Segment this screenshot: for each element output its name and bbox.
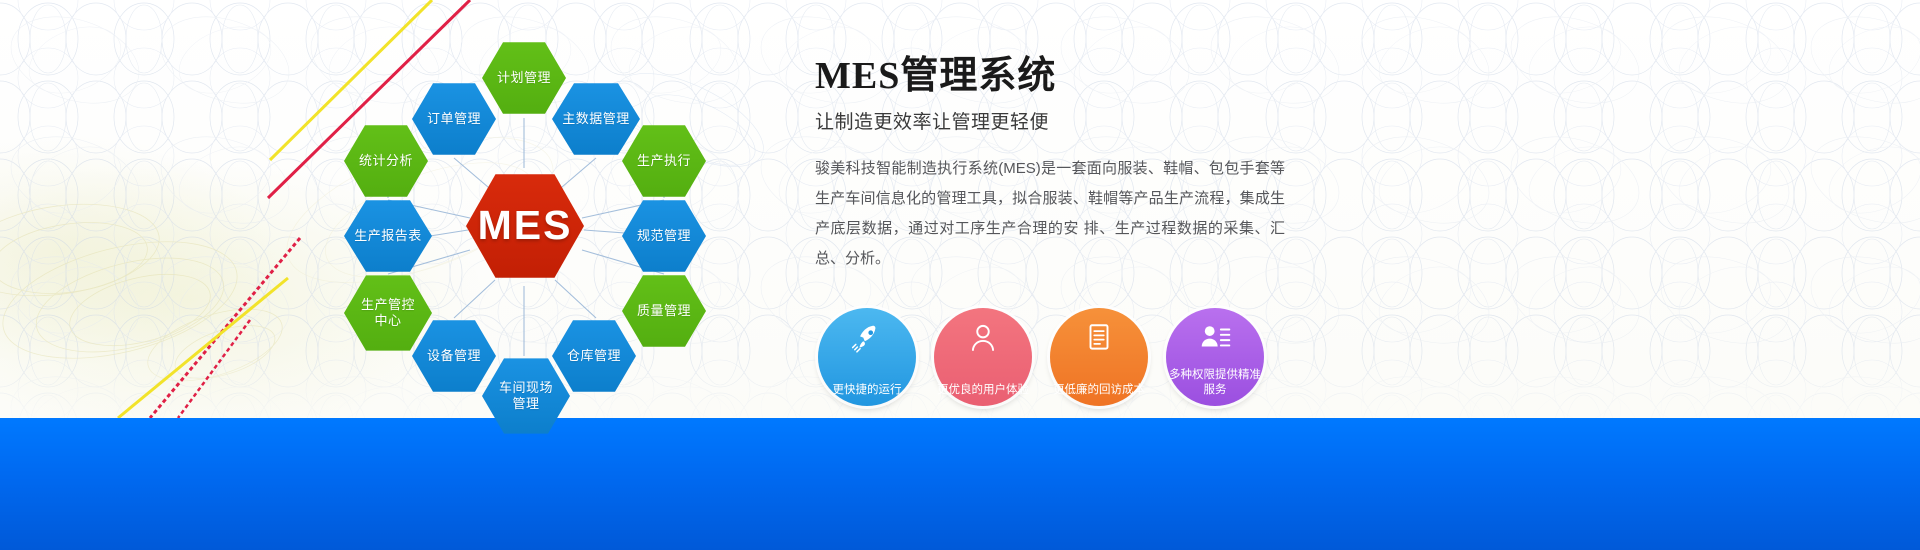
hex-node-label: 生产报告表 <box>354 228 422 244</box>
user-list-icon <box>1198 321 1232 355</box>
hex-node-label: 质量管理 <box>637 303 691 319</box>
hex-node-label: 生产管控中心 <box>360 297 416 330</box>
hex-node-label: 生产执行 <box>637 153 691 169</box>
feature-badge[interactable]: 多种权限提供精准服务 <box>1166 308 1264 406</box>
hex-node-label: 统计分析 <box>359 153 413 169</box>
feature-badge-label: 更快捷的运行 <box>821 383 913 397</box>
page-title: MES管理系统 <box>815 55 1285 99</box>
page-subtitle: 让制造更效率让管理更轻便 <box>815 107 1285 134</box>
hex-node-label: 规范管理 <box>637 228 691 244</box>
hex-node-label: 订单管理 <box>427 111 481 127</box>
feature-badge-label: 多种权限提供精准服务 <box>1169 368 1261 397</box>
hex-node-label: 设备管理 <box>427 348 481 364</box>
mes-promo-banner: 计划管理 订单管理 主数据管理 统计分析 生产执行 生产报告表 规范管理 生产管… <box>0 0 1920 550</box>
hex-core-label: MES <box>478 200 573 251</box>
feature-badge[interactable]: 更低廉的回访成本 <box>1050 308 1148 406</box>
document-icon <box>1082 321 1116 355</box>
feature-badge[interactable]: 更优良的用户体验 <box>934 308 1032 406</box>
user-icon <box>966 321 1000 355</box>
hex-node-label: 仓库管理 <box>567 348 621 364</box>
hex-node-label: 主数据管理 <box>562 111 630 127</box>
feature-badge-label: 更低廉的回访成本 <box>1053 383 1145 397</box>
feature-badge[interactable]: 更快捷的运行 <box>818 308 916 406</box>
hex-node-label: 计划管理 <box>497 70 551 86</box>
bottom-blue-band <box>0 418 1920 550</box>
description-paragraph: 骏美科技智能制造执行系统(MES)是一套面向服装、鞋帽、包包手套等生产车间信息化… <box>815 154 1285 274</box>
rocket-icon <box>850 321 884 355</box>
banner-text-column: MES管理系统 让制造更效率让管理更轻便 骏美科技智能制造执行系统(MES)是一… <box>815 55 1285 274</box>
mes-hexagon-diagram: 计划管理 订单管理 主数据管理 统计分析 生产执行 生产报告表 规范管理 生产管… <box>330 18 770 418</box>
hex-node-label: 车间现场管理 <box>498 380 554 413</box>
feature-badges: 更快捷的运行 更优良的用户体验 更低廉的回访成本 多种权限提供精准服务 <box>818 308 1278 408</box>
feature-badge-label: 更优良的用户体验 <box>937 383 1029 397</box>
